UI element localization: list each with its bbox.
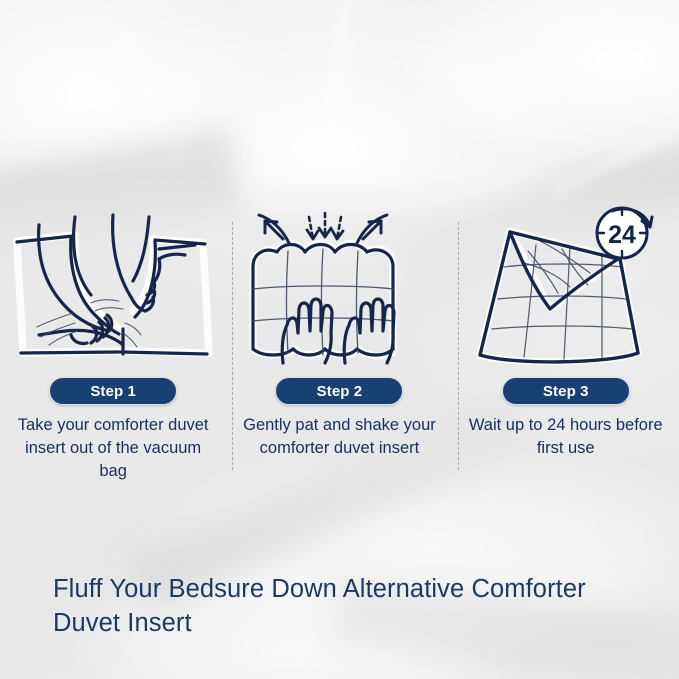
step-3-illustration: 24	[466, 205, 666, 373]
step-1-description: Take your comforter duvet insert out of …	[9, 414, 217, 483]
timer-24-badge: 24	[597, 208, 652, 258]
product-infographic: Step 1 Take your comforter duvet insert …	[0, 0, 679, 679]
headline: Fluff Your Bedsure Down Alternative Comf…	[53, 572, 659, 640]
step-3-description: Wait up to 24 hours before first use	[462, 414, 670, 460]
step-column-3: 24 Step 3 Wait up to 24 hours before fir…	[453, 205, 679, 483]
step-2-badge: Step 2	[275, 377, 403, 405]
hands-patting-comforter-icon	[239, 205, 439, 373]
step-1-illustration	[13, 205, 213, 373]
steps-row: Step 1 Take your comforter duvet insert …	[0, 205, 679, 483]
step-column-1: Step 1 Take your comforter duvet insert …	[0, 205, 226, 483]
step-3-badge: Step 3	[502, 377, 630, 405]
step-1-badge: Step 1	[49, 377, 177, 405]
comforter-fold-with-timer-icon: 24	[466, 205, 666, 373]
step-2-description: Gently pat and shake your comforter duve…	[235, 414, 443, 460]
timer-24-label: 24	[608, 221, 636, 249]
step-2-illustration	[239, 205, 439, 373]
step-column-2: Step 2 Gently pat and shake your comfort…	[226, 205, 452, 483]
hands-squeezing-vacuum-bag-icon	[13, 205, 213, 373]
